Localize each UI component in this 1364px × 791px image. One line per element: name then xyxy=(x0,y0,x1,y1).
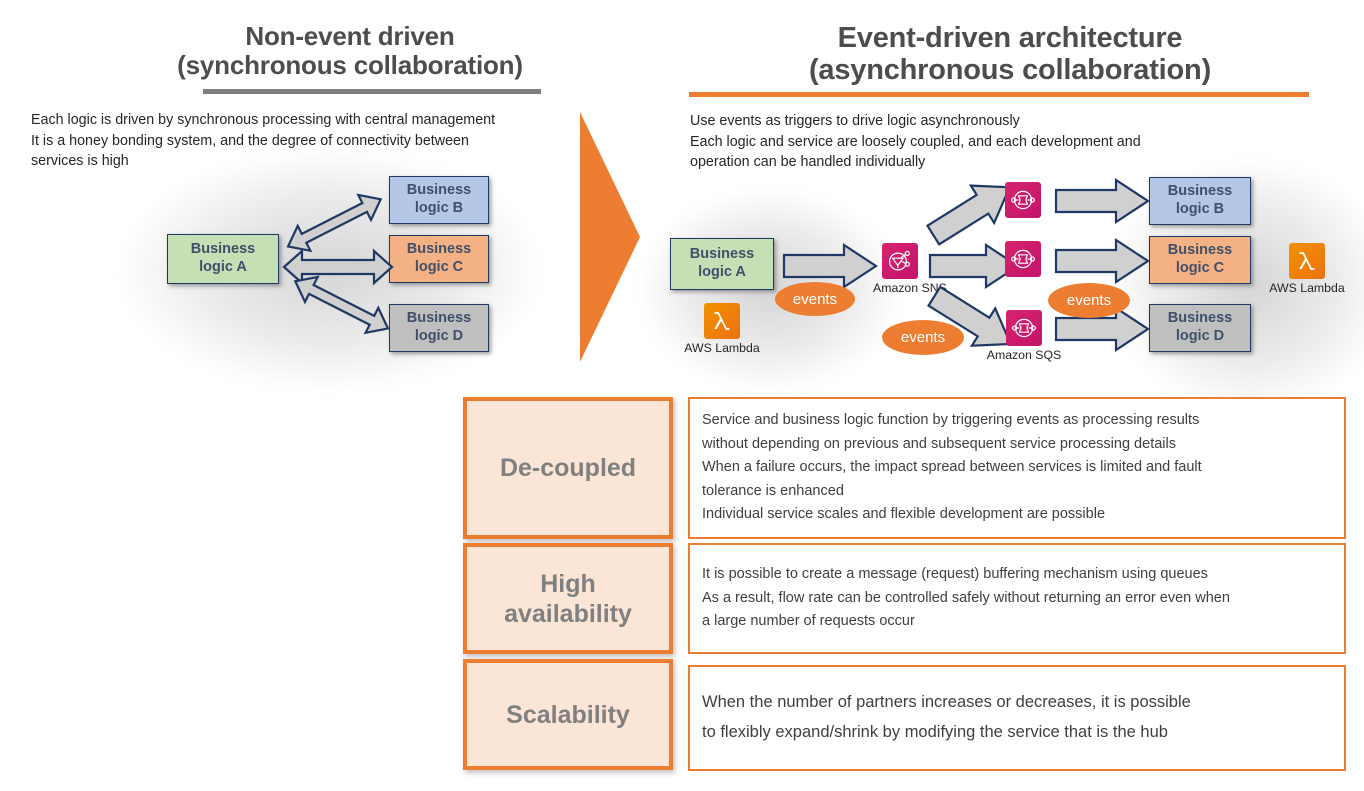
left-box-business-logic-a[interactable]: Business logic A xyxy=(167,234,279,284)
right-panel-description: Use events as triggers to drive logic as… xyxy=(690,111,1320,173)
feature-0-line-0: Service and business logic function by t… xyxy=(702,409,1332,432)
left-box-c-line2: logic C xyxy=(407,259,471,277)
feature-0-line-3: tolerance is enhanced xyxy=(702,480,1332,503)
right-panel-title: Event-driven architecture (asynchronous … xyxy=(700,22,1320,87)
aws-lambda-right[interactable]: AWS Lambda xyxy=(1268,243,1346,295)
left-box-a-line1: Business xyxy=(191,241,255,259)
left-box-c-line1: Business xyxy=(407,241,471,259)
aws-lambda-icon xyxy=(704,303,740,339)
aws-lambda-left-label: AWS Lambda xyxy=(684,341,760,355)
lambda-glyph-icon xyxy=(710,309,734,333)
lambda-glyph-icon xyxy=(1295,249,1319,273)
amazon-sqs-icon-bottom xyxy=(1006,310,1042,346)
left-panel-title: Non-event driven (synchronous collaborat… xyxy=(130,22,570,80)
right-box-business-logic-d[interactable]: Business logic D xyxy=(1149,304,1251,352)
feature-label-high-availability: High availability xyxy=(463,543,673,654)
left-panel-description: Each logic is driven by synchronous proc… xyxy=(31,110,591,172)
amazon-sqs-middle[interactable] xyxy=(1005,241,1043,277)
aws-lambda-left[interactable]: AWS Lambda xyxy=(684,303,760,355)
arrow-sqs-to-logic-c xyxy=(1054,238,1150,284)
right-diagram-halo-left xyxy=(640,190,900,390)
events-pill-3-label: events xyxy=(1067,292,1111,309)
feature-label-scalability: Scalability xyxy=(463,659,673,770)
right-title-line2: (asynchronous collaboration) xyxy=(700,54,1320,86)
feature-0-line-4: Individual service scales and flexible d… xyxy=(702,503,1332,526)
events-pill-2: events xyxy=(882,320,964,355)
feature-0-line-1: without depending on previous and subseq… xyxy=(702,433,1332,456)
left-box-business-logic-b[interactable]: Business logic B xyxy=(389,176,489,224)
feature-label-scalability-text: Scalability xyxy=(506,700,630,730)
left-title-line1: Non-event driven xyxy=(130,22,570,51)
right-title-line1: Event-driven architecture xyxy=(700,22,1320,54)
sqs-glyph-icon xyxy=(1011,315,1037,341)
right-box-b-line1: Business xyxy=(1168,183,1232,201)
feature-1-line-1: As a result, flow rate can be controlled… xyxy=(702,587,1332,610)
left-box-a-line2: logic A xyxy=(191,259,255,277)
events-pill-2-label: events xyxy=(901,329,945,346)
right-box-c-line2: logic C xyxy=(1168,260,1232,278)
feature-desc-de-coupled: Service and business logic function by t… xyxy=(688,397,1346,539)
sqs-glyph-icon xyxy=(1010,187,1036,213)
feature-label-high-availability-line2: availability xyxy=(504,599,632,629)
feature-1-line-0: It is possible to create a message (requ… xyxy=(702,563,1332,586)
arrow-a-to-sns xyxy=(782,243,878,289)
amazon-sns-icon xyxy=(882,243,918,279)
right-desc-line1: Use events as triggers to drive logic as… xyxy=(690,111,1320,132)
left-title-line2: (synchronous collaboration) xyxy=(130,51,570,80)
left-box-business-logic-d[interactable]: Business logic D xyxy=(389,304,489,352)
left-box-b-line2: logic B xyxy=(407,200,471,218)
right-box-d-line2: logic D xyxy=(1168,328,1232,346)
right-title-underline xyxy=(689,92,1309,97)
slide-canvas: Non-event driven (synchronous collaborat… xyxy=(0,0,1364,791)
right-box-business-logic-a[interactable]: Business logic A xyxy=(670,238,774,290)
right-desc-line3: operation can be handled individually xyxy=(690,152,1320,173)
amazon-sns-service[interactable]: Amazon SNS xyxy=(873,243,927,295)
right-box-business-logic-c[interactable]: Business logic C xyxy=(1149,236,1251,284)
amazon-sqs-label: Amazon SQS xyxy=(984,348,1064,362)
left-desc-line1: Each logic is driven by synchronous proc… xyxy=(31,110,591,131)
amazon-sqs-icon-top xyxy=(1005,182,1041,218)
events-pill-1: events xyxy=(775,282,855,316)
right-box-business-logic-b[interactable]: Business logic B xyxy=(1149,177,1251,225)
sqs-glyph-icon xyxy=(1010,246,1036,272)
right-box-a-line2: logic A xyxy=(690,264,754,282)
left-box-d-line1: Business xyxy=(407,310,471,328)
right-box-b-line2: logic B xyxy=(1168,201,1232,219)
feature-label-de-coupled: De-coupled xyxy=(463,397,673,539)
left-box-d-line2: logic D xyxy=(407,328,471,346)
amazon-sqs-top[interactable] xyxy=(1005,182,1043,218)
feature-desc-high-availability: It is possible to create a message (requ… xyxy=(688,543,1346,654)
aws-lambda-icon xyxy=(1289,243,1325,279)
right-box-a-line1: Business xyxy=(690,246,754,264)
amazon-sqs-bottom[interactable]: Amazon SQS xyxy=(984,310,1064,362)
left-title-underline xyxy=(203,89,541,94)
feature-2-line-1: to flexibly expand/shrink by modifying t… xyxy=(702,718,1332,748)
feature-label-high-availability-line1: High xyxy=(504,569,632,599)
amazon-sqs-icon-middle xyxy=(1005,241,1041,277)
left-bidirectional-arrows xyxy=(280,172,396,362)
feature-desc-scalability: When the number of partners increases or… xyxy=(688,665,1346,771)
aws-lambda-right-label: AWS Lambda xyxy=(1268,281,1346,295)
left-box-business-logic-c[interactable]: Business logic C xyxy=(389,235,489,283)
right-box-d-line1: Business xyxy=(1168,310,1232,328)
amazon-sns-label: Amazon SNS xyxy=(873,281,927,295)
right-box-c-line1: Business xyxy=(1168,242,1232,260)
feature-0-line-2: When a failure occurs, the impact spread… xyxy=(702,456,1332,479)
left-desc-line2: It is a honey bonding system, and the de… xyxy=(31,131,591,152)
left-box-b-line1: Business xyxy=(407,182,471,200)
feature-2-line-0: When the number of partners increases or… xyxy=(702,688,1332,718)
arrow-sqs-to-logic-b xyxy=(1054,178,1150,224)
feature-label-de-coupled-text: De-coupled xyxy=(500,453,636,483)
events-pill-1-label: events xyxy=(793,291,837,308)
feature-1-line-2: a large number of requests occur xyxy=(702,610,1332,633)
left-desc-line3: services is high xyxy=(31,151,591,172)
right-desc-line2: Each logic and service are loosely coupl… xyxy=(690,132,1320,153)
events-pill-3: events xyxy=(1048,283,1130,318)
sns-glyph-icon xyxy=(887,248,913,274)
